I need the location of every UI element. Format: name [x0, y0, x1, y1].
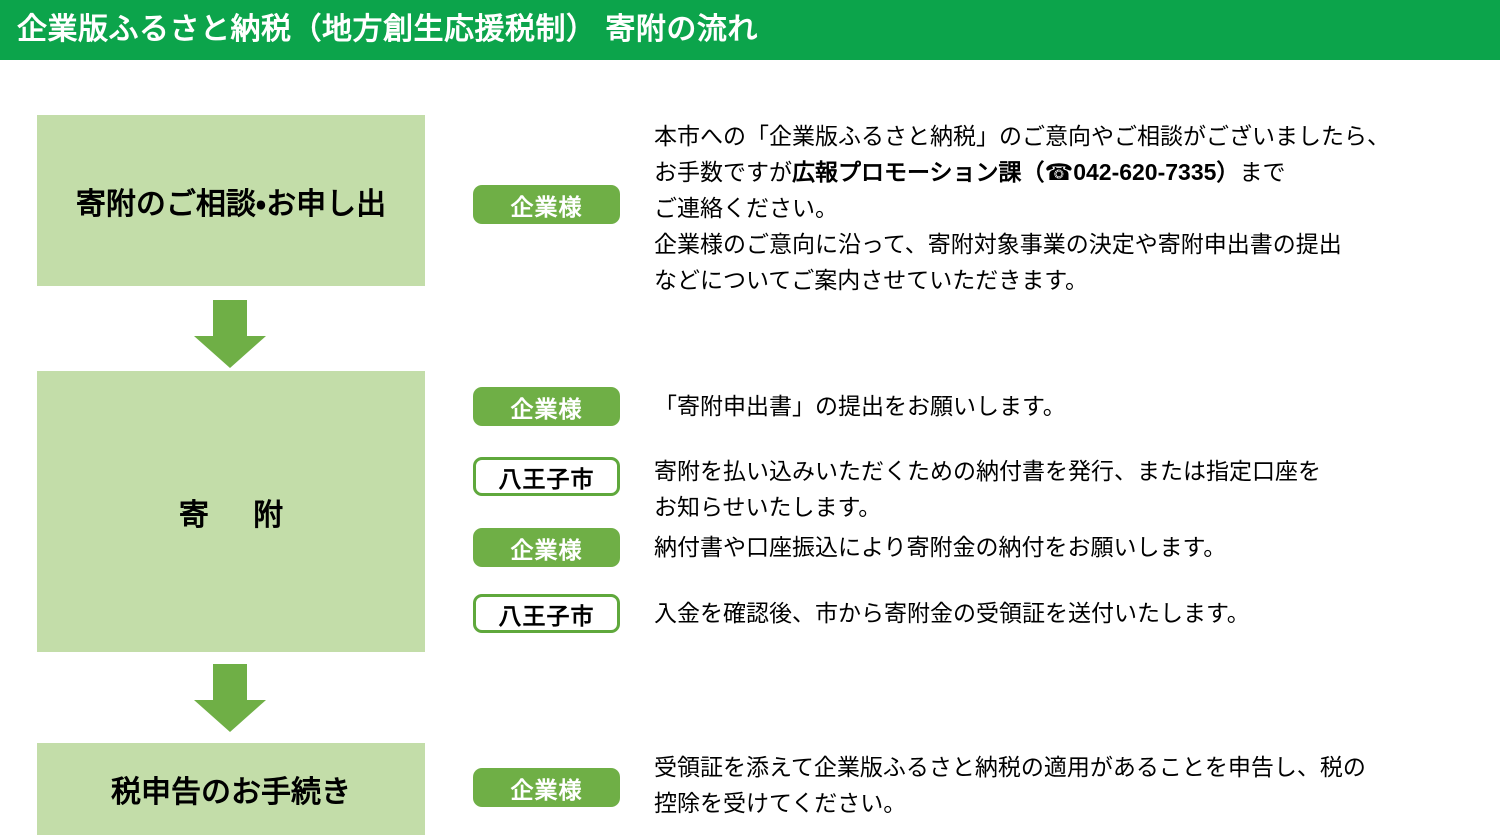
- stage-label: 寄附のご相談・お申し出: [76, 179, 386, 223]
- stage-box-tax-filing: 税申告のお手続き: [37, 743, 425, 835]
- actor-badge-label: 企業様: [511, 531, 583, 565]
- stage-box-consultation: 寄附のご相談・お申し出: [37, 115, 425, 286]
- step-description: 受領証を添えて企業版ふるさと納税の適用があることを申告し、税の 控除を受けてくだ…: [654, 749, 1484, 821]
- header-bar: 企業版ふるさと納税（地方創生応援税制） 寄附の流れ: [0, 0, 1500, 60]
- step-description: 納付書や口座振込により寄附金の納付をお願いします。: [654, 529, 1484, 565]
- actor-badge-company: 企業様: [473, 185, 620, 224]
- actor-badge-label: 八王子市: [499, 460, 595, 494]
- step-description: 本市への「企業版ふるさと納税」のご意向やご相談がございましたら、 お手数ですが広…: [654, 118, 1484, 298]
- arrow-head: [194, 700, 266, 732]
- stage-box-donation: 寄 附: [37, 371, 425, 652]
- actor-badge-label: 企業様: [511, 390, 583, 424]
- step-description: 「寄附申出書」の提出をお願いします。: [654, 388, 1484, 424]
- arrow-shaft: [213, 300, 247, 337]
- arrow-head: [194, 336, 266, 368]
- page-title: 企業版ふるさと納税（地方創生応援税制） 寄附の流れ: [17, 9, 758, 51]
- actor-badge-label: 八王子市: [499, 597, 595, 631]
- actor-badge-company: 企業様: [473, 387, 620, 426]
- actor-badge-company: 企業様: [473, 528, 620, 567]
- actor-badge-city: 八王子市: [473, 594, 620, 633]
- actor-badge-label: 企業様: [511, 771, 583, 805]
- step-description: 入金を確認後、市から寄附金の受領証を送付いたします。: [654, 595, 1484, 631]
- arrow-down-icon: [194, 664, 266, 732]
- stage-label: 税申告のお手続き: [111, 767, 351, 811]
- actor-badge-city: 八王子市: [473, 457, 620, 496]
- arrow-shaft: [213, 664, 247, 701]
- actor-badge-company: 企業様: [473, 768, 620, 807]
- actor-badge-label: 企業様: [511, 188, 583, 222]
- stage-label: 寄 附: [161, 490, 301, 534]
- step-description: 寄附を払い込みいただくための納付書を発行、または指定口座を お知らせいたします。: [654, 453, 1484, 525]
- arrow-down-icon: [194, 300, 266, 368]
